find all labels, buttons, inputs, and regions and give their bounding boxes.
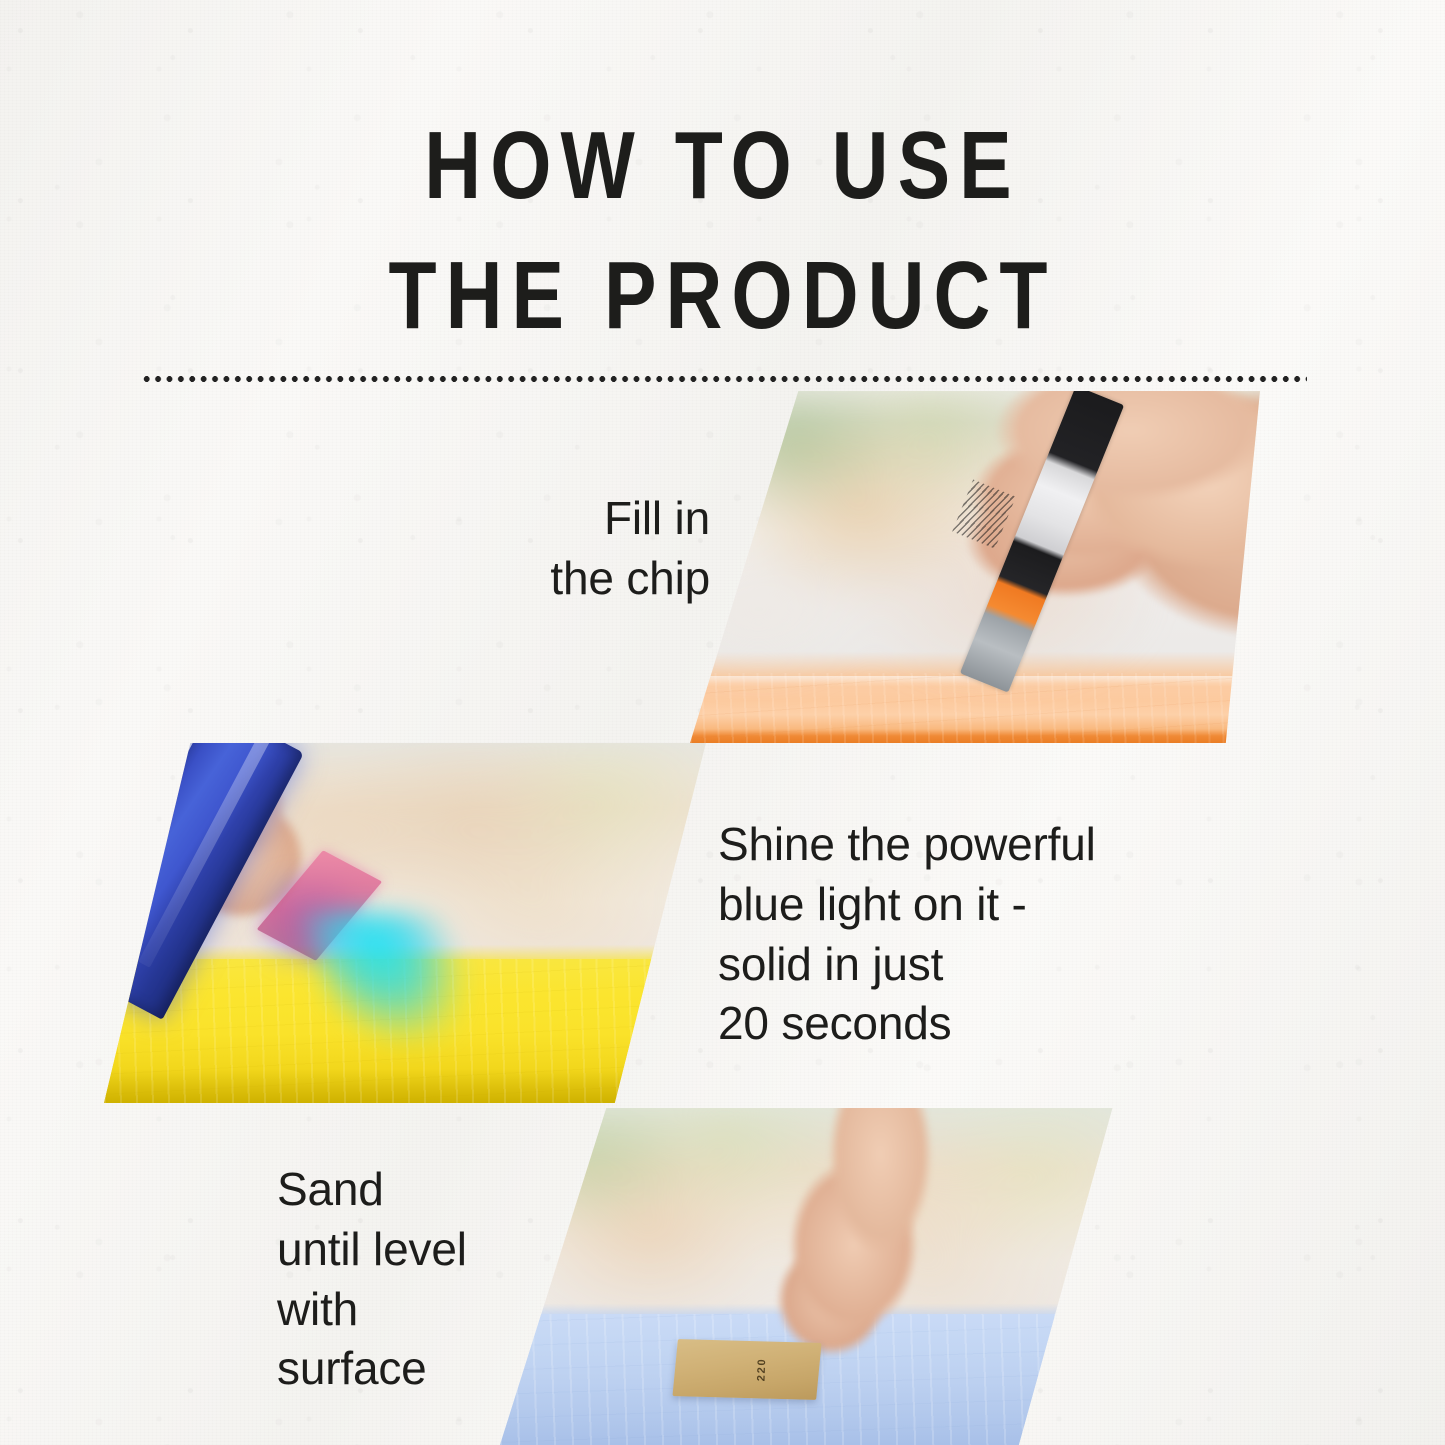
photo-1-countertop-texture [690, 673, 1260, 743]
photo-3-sandpaper [672, 1339, 821, 1400]
step-2-photo-panel [104, 743, 712, 1103]
photo-3-hand [750, 1108, 975, 1364]
dotted-divider [141, 376, 1307, 382]
page-title-line-1: HOW TO USE [130, 118, 1315, 214]
photo-3-sandpaper-grit-label: 220 [748, 1334, 777, 1404]
step-1-caption: Fill in the chip [350, 489, 710, 609]
sand-until-level-photo: 220 [500, 1108, 1125, 1445]
step-3-photo-panel: 220 [500, 1108, 1125, 1445]
fill-in-the-chip-photo [690, 391, 1260, 743]
page-title-line-2: THE PRODUCT [130, 248, 1315, 344]
step-1-photo-panel [690, 391, 1260, 743]
step-3-caption: Sand until level with surface [277, 1160, 567, 1399]
blue-light-cure-photo [104, 743, 712, 1103]
step-2-caption: Shine the powerful blue light on it - so… [718, 815, 1188, 1054]
page-header: HOW TO USE THE PRODUCT [0, 0, 1445, 344]
